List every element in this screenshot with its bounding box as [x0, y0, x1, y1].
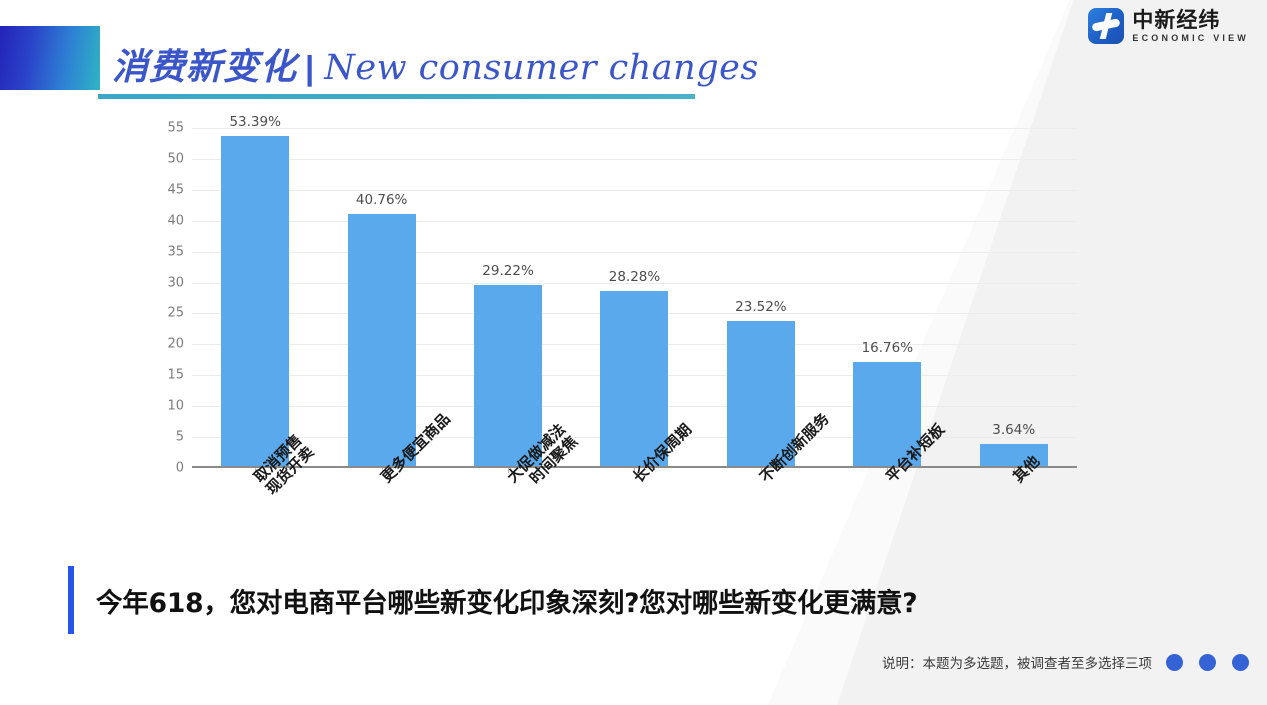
- survey-question: 今年618，您对电商平台哪些新变化印象深刻?您对哪些新变化更满意?: [68, 566, 917, 634]
- brand-name-cn: 中新经纬: [1132, 10, 1249, 31]
- decorative-dots: [1166, 654, 1249, 671]
- bar-slot: 3.64%: [951, 128, 1077, 466]
- chart-bar[interactable]: [348, 214, 416, 466]
- bar-slot: 23.52%: [698, 128, 824, 466]
- x-label-slot: 平台补短板: [824, 470, 950, 565]
- x-label-slot: 大促做减法时间聚焦: [445, 470, 571, 565]
- chart-bars: 53.39%40.76%29.22%28.28%23.52%16.76%3.64…: [192, 128, 1077, 466]
- y-axis-tick-label: 40: [167, 213, 184, 228]
- bar-value-label: 29.22%: [482, 263, 533, 279]
- x-label-slot: 更多便宜商品: [318, 470, 444, 565]
- x-axis-labels: 取消预售现货开卖更多便宜商品大促做减法时间聚焦长价保周期不断创新服务平台补短板其…: [192, 470, 1077, 565]
- title-underline: [98, 94, 695, 99]
- y-axis-tick-label: 30: [167, 275, 184, 290]
- bar-value-label: 28.28%: [609, 269, 660, 285]
- economic-view-logo-icon: [1088, 8, 1124, 44]
- bar-value-label: 3.64%: [992, 422, 1035, 438]
- y-axis-tick-label: 50: [167, 151, 184, 166]
- chart-plot-area: 53.39%40.76%29.22%28.28%23.52%16.76%3.64…: [192, 128, 1077, 468]
- x-label-slot: 长价保周期: [571, 470, 697, 565]
- bar-slot: 29.22%: [445, 128, 571, 466]
- slide-root: 消费新变化 | New consumer changes 中新经纬 ECONOM…: [0, 0, 1267, 705]
- page-title-cn: 消费新变化: [112, 38, 297, 90]
- bar-slot: 53.39%: [192, 128, 318, 466]
- y-axis-labels: 5550454035302520151050: [150, 128, 184, 468]
- x-label-slot: 其他: [951, 470, 1077, 565]
- slide-header: 消费新变化 | New consumer changes: [0, 0, 1267, 110]
- dot-icon: [1199, 654, 1216, 671]
- y-axis-tick-label: 5: [176, 430, 184, 445]
- bar-value-label: 16.76%: [862, 340, 913, 356]
- page-title: 消费新变化 | New consumer changes: [112, 38, 759, 90]
- chart-bar[interactable]: [221, 136, 289, 466]
- y-axis-tick-label: 35: [167, 244, 184, 259]
- y-axis-tick-label: 10: [167, 399, 184, 414]
- y-axis-tick-label: 0: [176, 461, 184, 476]
- page-title-en: New consumer changes: [324, 48, 759, 88]
- question-text: 今年618，您对电商平台哪些新变化印象深刻?您对哪些新变化更满意?: [96, 581, 917, 620]
- y-axis-tick-label: 15: [167, 368, 184, 383]
- bar-slot: 40.76%: [318, 128, 444, 466]
- dot-icon: [1232, 654, 1249, 671]
- chart-bar[interactable]: [474, 285, 542, 466]
- footnote: 说明：本题为多选题，被调查者至多选择三项: [882, 652, 1249, 672]
- y-axis-tick-label: 20: [167, 337, 184, 352]
- bar-value-label: 40.76%: [356, 192, 407, 208]
- bar-slot: 16.76%: [824, 128, 950, 466]
- y-axis-tick-label: 45: [167, 182, 184, 197]
- bar-chart: 5550454035302520151050 53.39%40.76%29.22…: [150, 128, 1085, 468]
- footnote-text: 说明：本题为多选题，被调查者至多选择三项: [882, 652, 1152, 672]
- dot-icon: [1166, 654, 1183, 671]
- chart-bar[interactable]: [600, 291, 668, 466]
- page-title-separator: |: [305, 49, 314, 87]
- brand-name-en: ECONOMIC VIEW: [1132, 34, 1249, 43]
- brand-logo-text: 中新经纬 ECONOMIC VIEW: [1132, 10, 1249, 43]
- y-axis-tick-label: 55: [167, 121, 184, 136]
- x-label-slot: 取消预售现货开卖: [192, 470, 318, 565]
- bar-value-label: 23.52%: [735, 299, 786, 315]
- question-accent-bar: [68, 566, 74, 634]
- brand-logo: 中新经纬 ECONOMIC VIEW: [1088, 8, 1249, 44]
- bar-slot: 28.28%: [571, 128, 697, 466]
- header-gradient-block: [0, 26, 100, 90]
- bar-value-label: 53.39%: [229, 114, 280, 130]
- y-axis-tick-label: 25: [167, 306, 184, 321]
- x-label-slot: 不断创新服务: [698, 470, 824, 565]
